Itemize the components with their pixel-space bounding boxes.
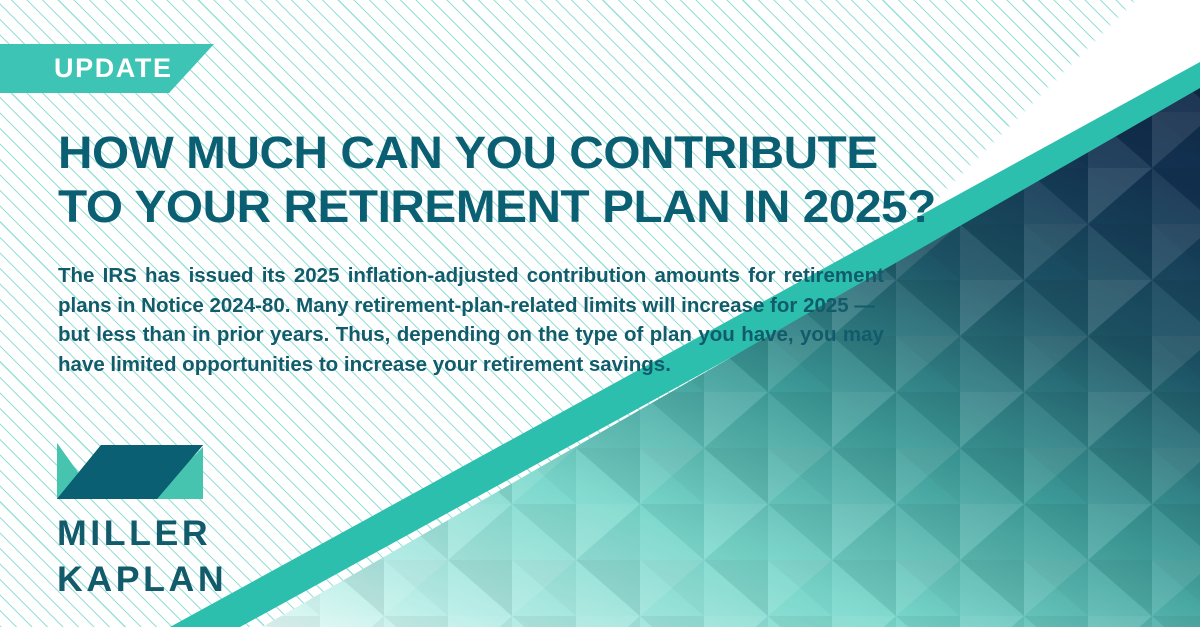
miller-kaplan-mark-icon: [57, 437, 203, 506]
body-word: but: [58, 320, 90, 350]
body-word: may: [843, 320, 884, 350]
body-word: its: [262, 261, 286, 291]
body-word: amounts: [654, 261, 739, 291]
body-line-1: The IRS has issued its 2025 inflation-ad…: [58, 261, 884, 291]
body-line-4: have limited opportunities to increase y…: [58, 350, 884, 380]
miller-kaplan-logo: MILLER KAPLAN: [57, 437, 207, 598]
body-word: IRS: [103, 261, 137, 291]
body-word: than: [143, 320, 186, 350]
headline-line-2: TO YOUR RETIREMENT PLAN IN 2025?: [58, 180, 1012, 234]
body-word: of: [624, 320, 643, 350]
body-word: plan: [650, 320, 692, 350]
logo-wordmark-line-1: MILLER: [57, 516, 210, 552]
page-title: HOW MUCH CAN YOU CONTRIBUTE TO YOUR RETI…: [58, 126, 958, 234]
update-banner: UPDATE: [0, 44, 214, 93]
body-word: 2025: [294, 261, 340, 291]
headline-line-1: HOW MUCH CAN YOU CONTRIBUTE: [58, 126, 1012, 180]
logo-wordmark-line-2: KAPLAN: [57, 562, 210, 598]
body-word: years.: [270, 320, 329, 350]
body-word: on: [507, 320, 532, 350]
body-word: in: [192, 320, 210, 350]
body-paragraph: The IRS has issued its 2025 inflation-ad…: [58, 261, 884, 379]
body-word: The: [58, 261, 94, 291]
body-word: issued: [189, 261, 254, 291]
body-word: type: [575, 320, 617, 350]
body-word: you: [800, 320, 836, 350]
body-word: the: [538, 320, 569, 350]
body-word: retirement: [784, 261, 884, 291]
body-line-3: but less than in prior years. Thus, depe…: [58, 320, 884, 350]
body-word: less: [96, 320, 136, 350]
body-word: have,: [741, 320, 793, 350]
body-word: depending: [397, 320, 501, 350]
body-word: contribution: [527, 261, 647, 291]
update-banner-label: UPDATE: [54, 53, 173, 84]
promo-graphic-canvas: UPDATE HOW MUCH CAN YOU CONTRIBUTE TO YO…: [0, 0, 1200, 627]
body-word: has: [145, 261, 180, 291]
body-line-2: plans in Notice 2024-80. Many retirement…: [58, 291, 884, 321]
body-word: Thus,: [336, 320, 391, 350]
body-word: inflation-adjusted: [348, 261, 519, 291]
body-word: for: [748, 261, 775, 291]
body-word: prior: [217, 320, 264, 350]
body-word: you: [698, 320, 734, 350]
